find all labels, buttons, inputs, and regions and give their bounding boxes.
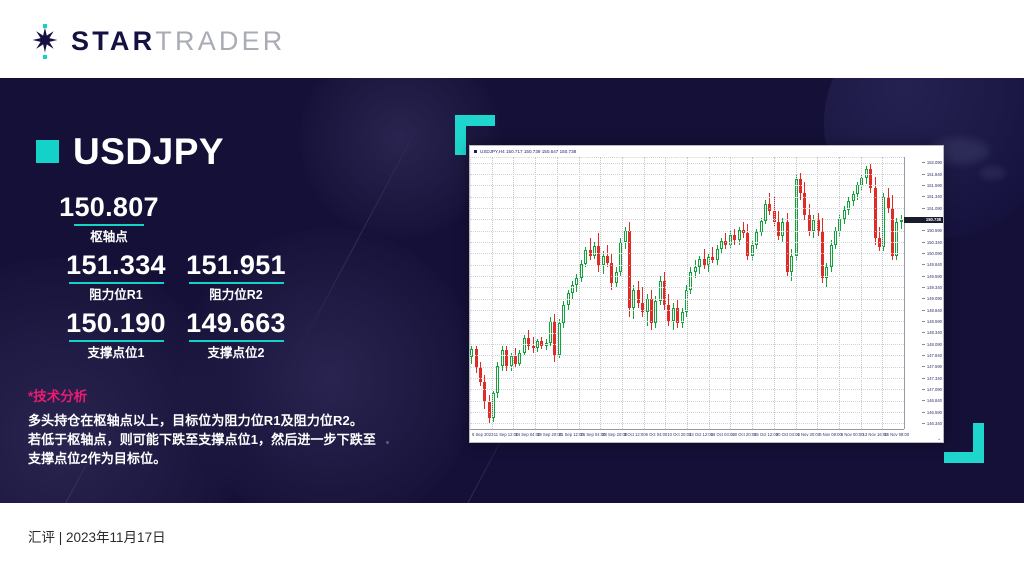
candlestick — [514, 157, 518, 429]
price-axis-tick: 147.840 — [927, 353, 942, 358]
candlestick — [716, 157, 720, 429]
time-axis-tick: 18 Oct 04:00 — [711, 432, 735, 438]
time-axis-tick: 3 Oct 12:00 — [624, 432, 646, 438]
candlestick-body — [514, 356, 517, 364]
candlestick — [549, 157, 553, 429]
chart-gridline-vertical — [600, 157, 601, 429]
candlestick-body — [654, 301, 657, 323]
level-r2-label: 阻力位R2 — [164, 288, 308, 303]
chart-time-axis: 6 Sep 202311 Sep 12:0014 Sep 04:0018 Sep… — [470, 429, 904, 442]
candlestick — [567, 157, 571, 429]
chart-gridline-horizontal — [470, 412, 904, 413]
level-underline — [74, 224, 144, 226]
candlestick — [659, 157, 663, 429]
price-axis-tick: 147.590 — [927, 364, 942, 369]
candlestick-body — [558, 323, 561, 354]
price-chart-panel[interactable]: USDJPY,H4 150.717 150.739 150.647 150.73… — [469, 145, 944, 443]
level-resistance-2: 151.951 阻力位R2 — [164, 250, 308, 303]
candlestick — [689, 157, 693, 429]
price-axis-tick: 147.090 — [927, 387, 942, 392]
chart-gridline-horizontal — [470, 208, 904, 209]
candlestick — [646, 157, 650, 429]
candlestick — [475, 157, 479, 429]
candlestick-body — [694, 267, 697, 271]
candlestick — [589, 157, 593, 429]
candlestick — [760, 157, 764, 429]
instrument-symbol: USDJPY — [73, 133, 224, 170]
chart-gridline-horizontal — [470, 378, 904, 379]
candlestick — [545, 157, 549, 429]
candlestick-body — [895, 222, 898, 256]
candlestick — [830, 157, 834, 429]
price-axis-tick: 149.340 — [927, 285, 942, 290]
chart-gridline-vertical — [644, 157, 645, 429]
candlestick — [681, 157, 685, 429]
candlestick — [628, 157, 632, 429]
level-underline — [69, 282, 164, 284]
price-axis-tick: 147.340 — [927, 376, 942, 381]
candlestick-body — [637, 290, 640, 303]
chart-gridline-vertical — [513, 157, 514, 429]
price-axis-tick: 146.840 — [927, 398, 942, 403]
candlestick-body — [738, 230, 741, 240]
candlestick-body — [711, 257, 714, 260]
candlestick — [790, 157, 794, 429]
asterisk-star-icon: ✷ — [28, 24, 62, 58]
background-streak — [297, 123, 420, 353]
candlestick-body — [808, 215, 811, 231]
price-axis-tick: 150.340 — [927, 240, 942, 245]
price-axis-tick: 152.090 — [927, 160, 942, 165]
chart-gridline-vertical — [579, 157, 580, 429]
time-axis-tick: 9 Nov 00:00 — [841, 432, 864, 438]
price-axis-tick: 151.840 — [927, 172, 942, 177]
level-support-2: 149.663 支撑点位2 — [164, 308, 308, 361]
candlestick-body — [812, 220, 815, 231]
chart-gridline-vertical — [687, 157, 688, 429]
corner-bracket-bottom-right — [944, 423, 984, 463]
candlestick-body — [510, 356, 513, 366]
chart-gridline-vertical — [817, 157, 818, 429]
chart-gridline-horizontal — [470, 265, 904, 266]
candlestick-body — [716, 249, 719, 260]
price-axis-tick: 148.590 — [927, 319, 942, 324]
chart-gridline-vertical — [535, 157, 536, 429]
teal-square-marker-icon — [36, 140, 59, 163]
candlestick — [584, 157, 588, 429]
candlestick — [637, 157, 641, 429]
chart-gridline-horizontal — [470, 333, 904, 334]
chart-gridline-horizontal — [470, 219, 904, 220]
candlestick-body — [891, 209, 894, 256]
chart-gridline-vertical — [665, 157, 666, 429]
candlestick-body — [602, 256, 605, 265]
level-underline — [69, 340, 164, 342]
chart-gridline-horizontal — [470, 163, 904, 164]
technical-analysis-block: *技术分析 多头持仓在枢轴点以上，目标位为阻力位R1及阻力位R2。 若低于枢轴点… — [28, 388, 428, 468]
candlestick — [483, 157, 487, 429]
candlestick — [738, 157, 742, 429]
candlestick — [536, 157, 540, 429]
chart-gridline-horizontal — [470, 287, 904, 288]
candlestick — [558, 157, 562, 429]
time-axis-tick: 6 Sep 2023 — [472, 432, 493, 438]
analysis-line-2: 若低于枢轴点，则可能下跌至支撑点位1，然后进一步下跌至 — [28, 430, 428, 449]
brand-name-bold: STAR — [71, 26, 155, 56]
chart-gridline-horizontal — [470, 423, 904, 424]
candlestick — [852, 157, 856, 429]
candlestick — [799, 157, 803, 429]
chart-gridline-vertical — [709, 157, 710, 429]
logo-square-bottom — [43, 55, 47, 59]
chart-bullet-icon — [474, 150, 477, 153]
logo-asterisk-glyph: ✷ — [28, 27, 62, 55]
candlestick — [606, 157, 610, 429]
candlestick-body — [667, 305, 670, 321]
price-axis-tick: 151.340 — [927, 194, 942, 199]
price-axis-tick: 148.340 — [927, 330, 942, 335]
level-r2-value: 151.951 — [164, 250, 308, 280]
chart-gridline-horizontal — [470, 344, 904, 345]
candlestick-body — [593, 246, 596, 256]
candlestick-body — [698, 259, 701, 267]
chart-gridline-horizontal — [470, 355, 904, 356]
candlestick-body — [571, 285, 574, 293]
level-s2-value: 149.663 — [164, 308, 308, 338]
candlestick — [777, 157, 781, 429]
chart-gridline-horizontal — [470, 253, 904, 254]
sphere-highlight — [980, 166, 1006, 180]
time-axis-tick: 13 Oct 12:00 — [689, 432, 713, 438]
candlestick-body — [733, 235, 736, 240]
instrument-title-row: USDJPY — [36, 133, 224, 170]
price-axis-tick: 148.090 — [927, 342, 942, 347]
chart-gridline-vertical — [730, 157, 731, 429]
footer-caption: 汇评 | 2023年11月17日 — [28, 529, 166, 547]
candlestick — [518, 157, 522, 429]
chart-gridline-vertical — [492, 157, 493, 429]
candlestick — [496, 157, 500, 429]
level-pivot-label: 枢轴点 — [46, 230, 172, 245]
candlestick-body — [843, 210, 846, 219]
level-pivot: 150.807 枢轴点 — [46, 192, 172, 245]
chart-gridline-horizontal — [470, 310, 904, 311]
level-s2-label: 支撑点位2 — [164, 346, 308, 361]
chart-gridline-vertical — [774, 157, 775, 429]
main-stage: USDJPY 150.807 枢轴点 151.334 阻力位R1 151.951… — [0, 78, 1024, 503]
chart-corner-mark: ▪ — [938, 437, 940, 443]
chart-title-text: USDJPY,H4 150.717 150.739 150.647 150.73… — [480, 149, 576, 154]
candlestick — [821, 157, 825, 429]
candlestick-body — [610, 263, 613, 283]
candlestick-body — [483, 382, 486, 402]
chart-gridline-horizontal — [470, 367, 904, 368]
technical-analysis-title: *技术分析 — [28, 388, 428, 406]
candlestick — [869, 157, 873, 429]
time-axis-tick: 10 Oct 20:00 — [667, 432, 691, 438]
candlestick-body — [821, 231, 824, 278]
candlestick-body — [518, 353, 521, 364]
chart-gridline-vertical — [752, 157, 753, 429]
candlestick — [746, 157, 750, 429]
chart-gridline-vertical — [796, 157, 797, 429]
candlestick — [878, 157, 882, 429]
candlestick-body — [475, 349, 478, 368]
candlestick-body — [488, 402, 491, 418]
chart-gridline-horizontal — [470, 389, 904, 390]
price-axis-tick: 149.840 — [927, 262, 942, 267]
candlestick-body — [624, 231, 627, 242]
candlestick-body — [523, 338, 526, 352]
candlestick-body — [887, 197, 890, 208]
price-axis-tick: 148.840 — [927, 308, 942, 313]
chart-gridline-horizontal — [470, 185, 904, 186]
chart-gridline-vertical — [622, 157, 623, 429]
time-axis-tick: 6 Nov 08:00 — [819, 432, 842, 438]
time-axis-tick: 20 Oct 20:00 — [732, 432, 756, 438]
chart-title-bar: USDJPY,H4 150.717 150.739 150.647 150.73… — [470, 146, 943, 157]
candlestick-body — [856, 185, 859, 194]
chart-gridline-vertical — [557, 157, 558, 429]
candlestick-body — [777, 222, 780, 235]
time-axis-tick: 6 Oct 04:00 — [646, 432, 668, 438]
candlestick — [891, 157, 895, 429]
page-footer: 汇评 | 2023年11月17日 — [0, 503, 1024, 576]
price-axis-tick: 146.590 — [927, 410, 942, 415]
candlestick-body — [781, 222, 784, 235]
chart-gridline-horizontal — [470, 401, 904, 402]
candlestick — [667, 157, 671, 429]
candlestick — [847, 157, 851, 429]
time-axis-tick: 16 Nov 08:00 — [884, 432, 909, 438]
candlestick — [781, 157, 785, 429]
candlestick — [505, 157, 509, 429]
candlestick-body — [584, 250, 587, 263]
candlestick — [527, 157, 531, 429]
chart-gridline-horizontal — [470, 276, 904, 277]
candlestick-body — [606, 256, 609, 263]
price-axis-tick: 151.590 — [927, 183, 942, 188]
chart-gridline-horizontal — [470, 174, 904, 175]
level-underline — [189, 282, 284, 284]
candlestick — [768, 157, 772, 429]
candlestick — [720, 157, 724, 429]
level-underline — [189, 340, 284, 342]
chart-gridline-horizontal — [470, 321, 904, 322]
chart-gridline-vertical — [882, 157, 883, 429]
candlestick-body — [615, 272, 618, 283]
brand-name-light: TRADER — [155, 26, 285, 56]
level-pivot-value: 150.807 — [46, 192, 172, 222]
time-axis-tick: 25 Oct 12:00 — [754, 432, 778, 438]
candlestick — [698, 157, 702, 429]
chart-gridline-horizontal — [470, 197, 904, 198]
time-axis-tick: 1 Nov 20:00 — [798, 432, 821, 438]
chart-gridline-horizontal — [470, 242, 904, 243]
analysis-line-3: 支撑点位2作为目标位。 — [28, 449, 428, 468]
candlestick — [808, 157, 812, 429]
chart-gridline-vertical — [839, 157, 840, 429]
page-header: ✷ STARTRADER — [0, 0, 1024, 78]
candlestick — [650, 157, 654, 429]
candlestick — [615, 157, 619, 429]
price-axis-tick: 150.590 — [927, 228, 942, 233]
candlestick-body — [501, 350, 504, 366]
chart-plot-area[interactable] — [470, 157, 904, 429]
price-axis-tick: 149.090 — [927, 296, 942, 301]
price-axis-tick: 151.090 — [927, 206, 942, 211]
chart-gridline-horizontal — [470, 299, 904, 300]
candlestick-body — [900, 220, 903, 222]
price-axis-tick: 149.590 — [927, 274, 942, 279]
candlestick — [676, 157, 680, 429]
price-axis-tick: 146.340 — [927, 421, 942, 426]
time-axis-tick: 30 Oct 04:00 — [776, 432, 800, 438]
chart-gridline-horizontal — [470, 231, 904, 232]
brand-logo[interactable]: ✷ STARTRADER — [28, 24, 286, 58]
chart-price-axis: 152.090151.840151.590151.340151.090150.8… — [904, 157, 943, 429]
current-price-label: 150.738 — [904, 217, 943, 223]
candlestick-body — [479, 368, 482, 381]
technical-analysis-body: 多头持仓在枢轴点以上，目标位为阻力位R1及阻力位R2。 若低于枢轴点，则可能下跌… — [28, 411, 428, 468]
price-axis-tick: 150.090 — [927, 251, 942, 256]
brand-wordmark: STARTRADER — [71, 24, 286, 58]
chart-gridline-vertical — [861, 157, 862, 429]
analysis-line-1: 多头持仓在枢轴点以上，目标位为阻力位R1及阻力位R2。 — [28, 411, 428, 430]
candlestick-body — [505, 350, 508, 366]
